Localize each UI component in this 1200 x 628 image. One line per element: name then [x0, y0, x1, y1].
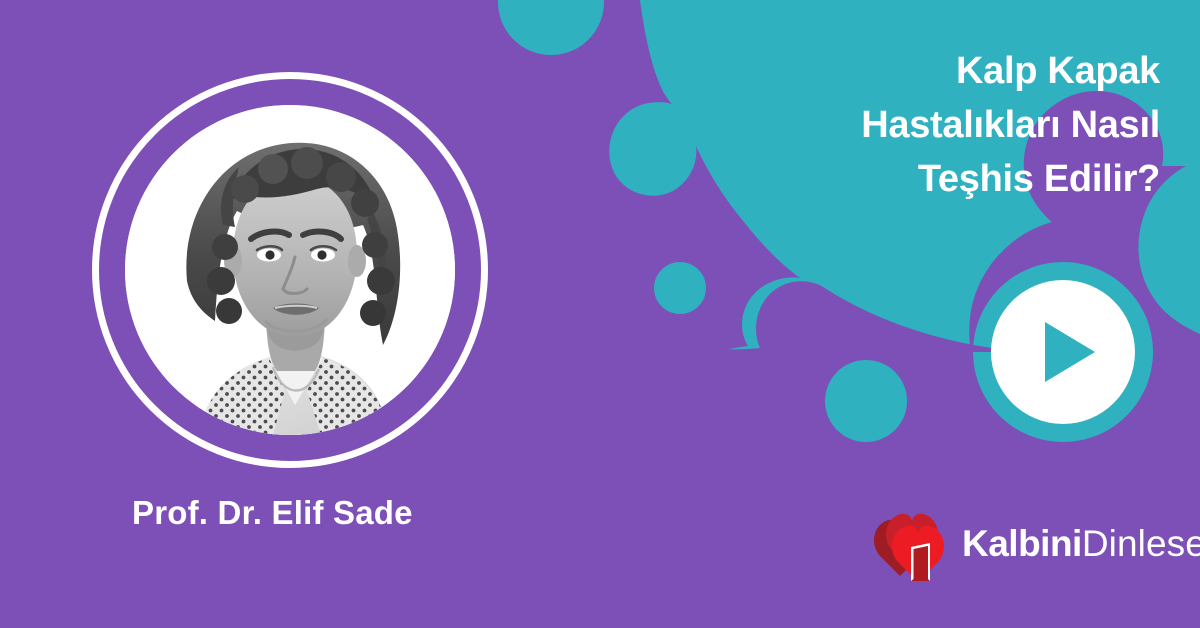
play-icon [1045, 322, 1095, 382]
title-line-2: Hastalıkları Nasıl [730, 98, 1160, 152]
heart-door-icon [866, 503, 948, 583]
video-title: Kalp Kapak Hastalıkları Nasıl Teşhis Edi… [730, 44, 1160, 206]
speaker-portrait [92, 72, 488, 468]
play-button[interactable] [991, 280, 1135, 424]
speaker-name: Prof. Dr. Elif Sade [132, 494, 413, 532]
brand-wordmark: KalbiniDinlesen [962, 525, 1200, 562]
brand-name-light: Dinlesen [1082, 523, 1200, 564]
brand-name-bold: Kalbini [962, 523, 1082, 564]
video-thumbnail-card: Prof. Dr. Elif Sade Kalp Kapak Hastalıkl… [0, 0, 1200, 628]
accent-circle-3 [825, 360, 907, 442]
portrait-disc [125, 105, 455, 435]
brand-logo[interactable]: KalbiniDinlesen [866, 503, 1200, 583]
title-line-3: Teşhis Edilir? [730, 152, 1160, 206]
accent-circle-2 [654, 262, 706, 314]
portrait-photo [125, 105, 455, 435]
title-line-1: Kalp Kapak [730, 44, 1160, 98]
